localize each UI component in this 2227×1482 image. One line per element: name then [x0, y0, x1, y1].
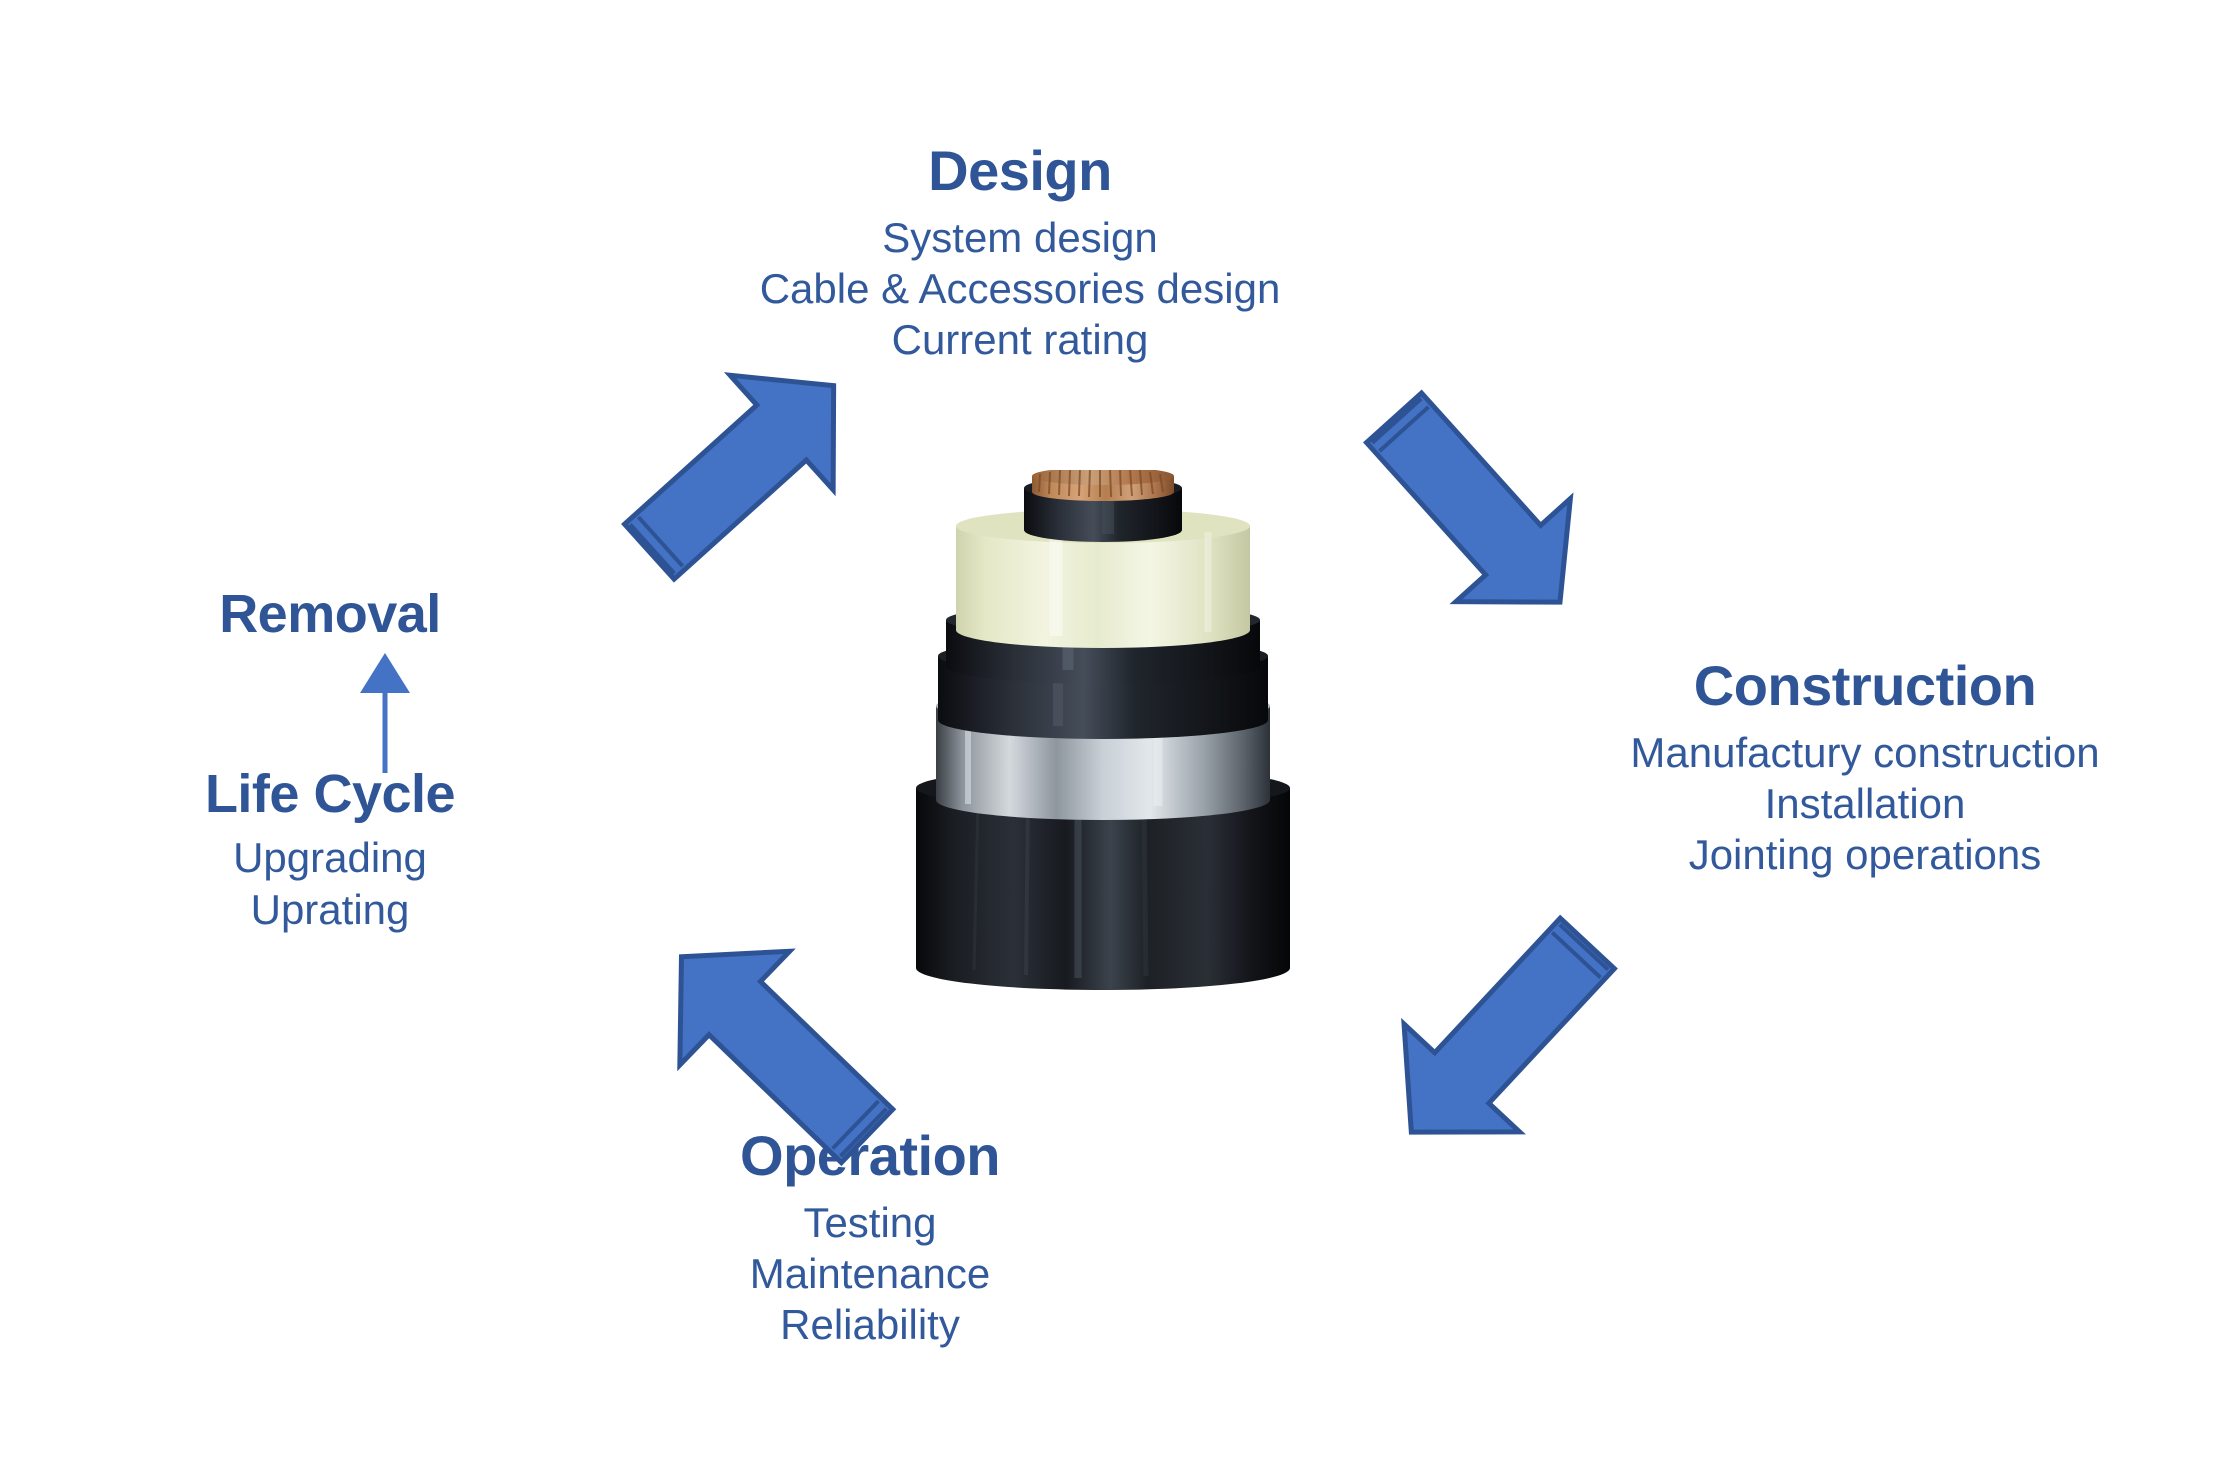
- construction-item-1: Manufactury construction: [1505, 727, 2225, 778]
- block-arrow-down-right-icon: [1335, 385, 1620, 635]
- design-item-2: Cable & Accessories design: [640, 263, 1400, 314]
- cable-layer-copper-conductor: [1032, 470, 1174, 501]
- stage-removal: Removal: [130, 585, 530, 644]
- thin-arrow-up-icon: [330, 645, 440, 780]
- lifecycle-item-2: Uprating: [120, 884, 540, 935]
- stage-lifecycle: Life Cycle Upgrading Uprating: [120, 765, 540, 935]
- stage-design: Design System design Cable & Accessories…: [640, 140, 1400, 365]
- construction-item-3: Jointing operations: [1505, 829, 2225, 880]
- stage-construction: Construction Manufactury construction In…: [1505, 655, 2225, 880]
- lifecycle-diagram: Design System design Cable & Accessories…: [0, 0, 2227, 1482]
- high-voltage-cable-cutaway: [908, 470, 1298, 990]
- design-heading: Design: [640, 140, 1400, 202]
- operation-item-2: Maintenance: [560, 1248, 1180, 1299]
- lifecycle-item-1: Upgrading: [120, 832, 540, 883]
- design-item-1: System design: [640, 212, 1400, 263]
- block-arrow-up-right-icon: [600, 345, 880, 595]
- operation-item-1: Testing: [560, 1197, 1180, 1248]
- block-arrow-down-left-icon: [1350, 905, 1650, 1170]
- construction-item-2: Installation: [1505, 778, 2225, 829]
- operation-item-3: Reliability: [560, 1299, 1180, 1350]
- block-arrow-up-left-icon: [625, 915, 925, 1180]
- removal-heading: Removal: [130, 585, 530, 644]
- construction-heading: Construction: [1505, 655, 2225, 717]
